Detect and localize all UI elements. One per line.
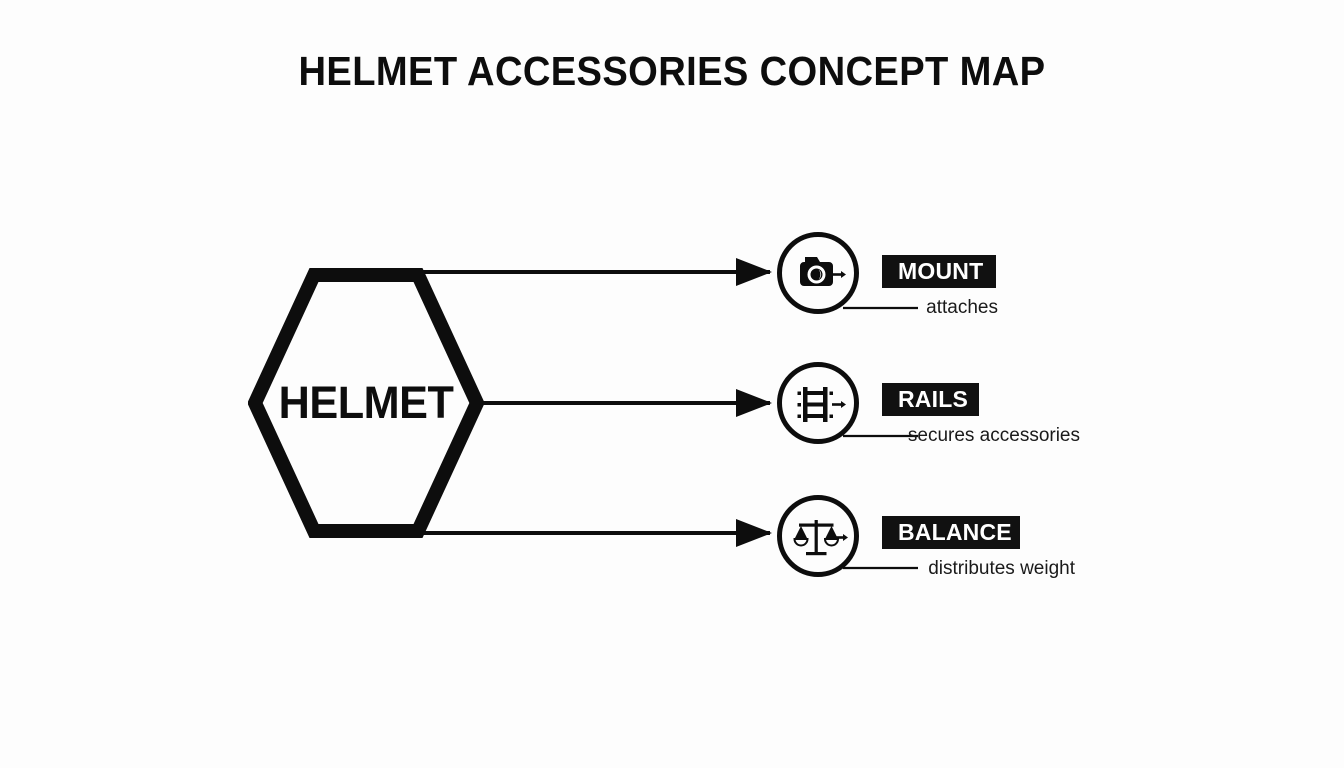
concept-map-canvas: HELMET ACCESSORIES CONCEPT MAP HELMET <box>0 0 1344 768</box>
caption-rails: secures accessories <box>760 425 1080 447</box>
branch-rails: RAILS secures accessories <box>0 362 1344 482</box>
badge-balance[interactable]: BALANCE <box>882 516 1020 549</box>
branch-balance: BALANCE distributes weight <box>0 495 1344 615</box>
caption-mount: attaches <box>760 297 998 319</box>
caption-balance: distributes weight <box>760 558 1075 580</box>
branch-mount: MOUNT attaches <box>0 232 1344 352</box>
badge-rails[interactable]: RAILS <box>882 383 979 416</box>
rails-arrow-icon <box>832 401 846 408</box>
camera-arrow-icon <box>832 271 846 278</box>
badge-mount[interactable]: MOUNT <box>882 255 996 288</box>
